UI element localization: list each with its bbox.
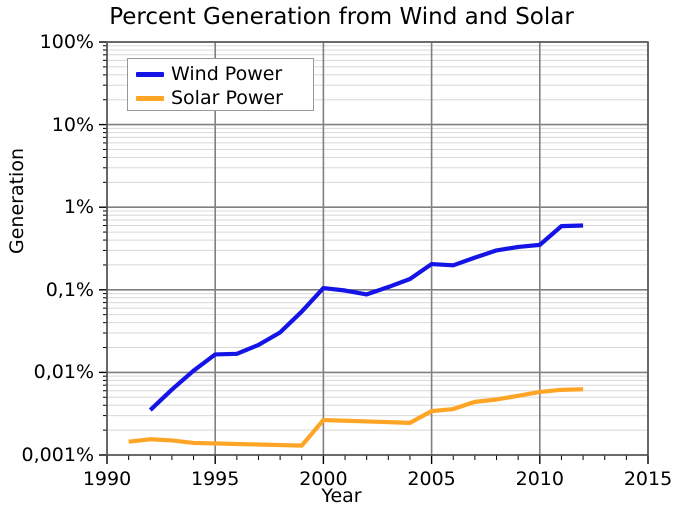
x-axis-label: Year bbox=[0, 485, 683, 507]
legend-item-solar-power[interactable]: Solar Power bbox=[136, 86, 283, 110]
legend-swatch-icon bbox=[136, 96, 164, 101]
chart-legend: Wind PowerSolar Power bbox=[127, 58, 314, 111]
y-tick-label: 0,1% bbox=[0, 279, 94, 301]
legend-swatch-icon bbox=[136, 72, 164, 77]
y-axis-label: Generation bbox=[6, 141, 28, 261]
y-tick-label: 0,01% bbox=[0, 361, 94, 383]
plot-area bbox=[0, 0, 683, 512]
legend-item-wind-power[interactable]: Wind Power bbox=[136, 62, 282, 86]
y-tick-label: 100% bbox=[0, 31, 94, 53]
legend-label: Wind Power bbox=[171, 65, 282, 84]
chart-figure: Percent Generation from Wind and Solar 0… bbox=[0, 0, 683, 512]
y-tick-label: 0,001% bbox=[0, 444, 94, 466]
y-tick-label: 10% bbox=[0, 114, 94, 136]
legend-label: Solar Power bbox=[171, 89, 283, 108]
